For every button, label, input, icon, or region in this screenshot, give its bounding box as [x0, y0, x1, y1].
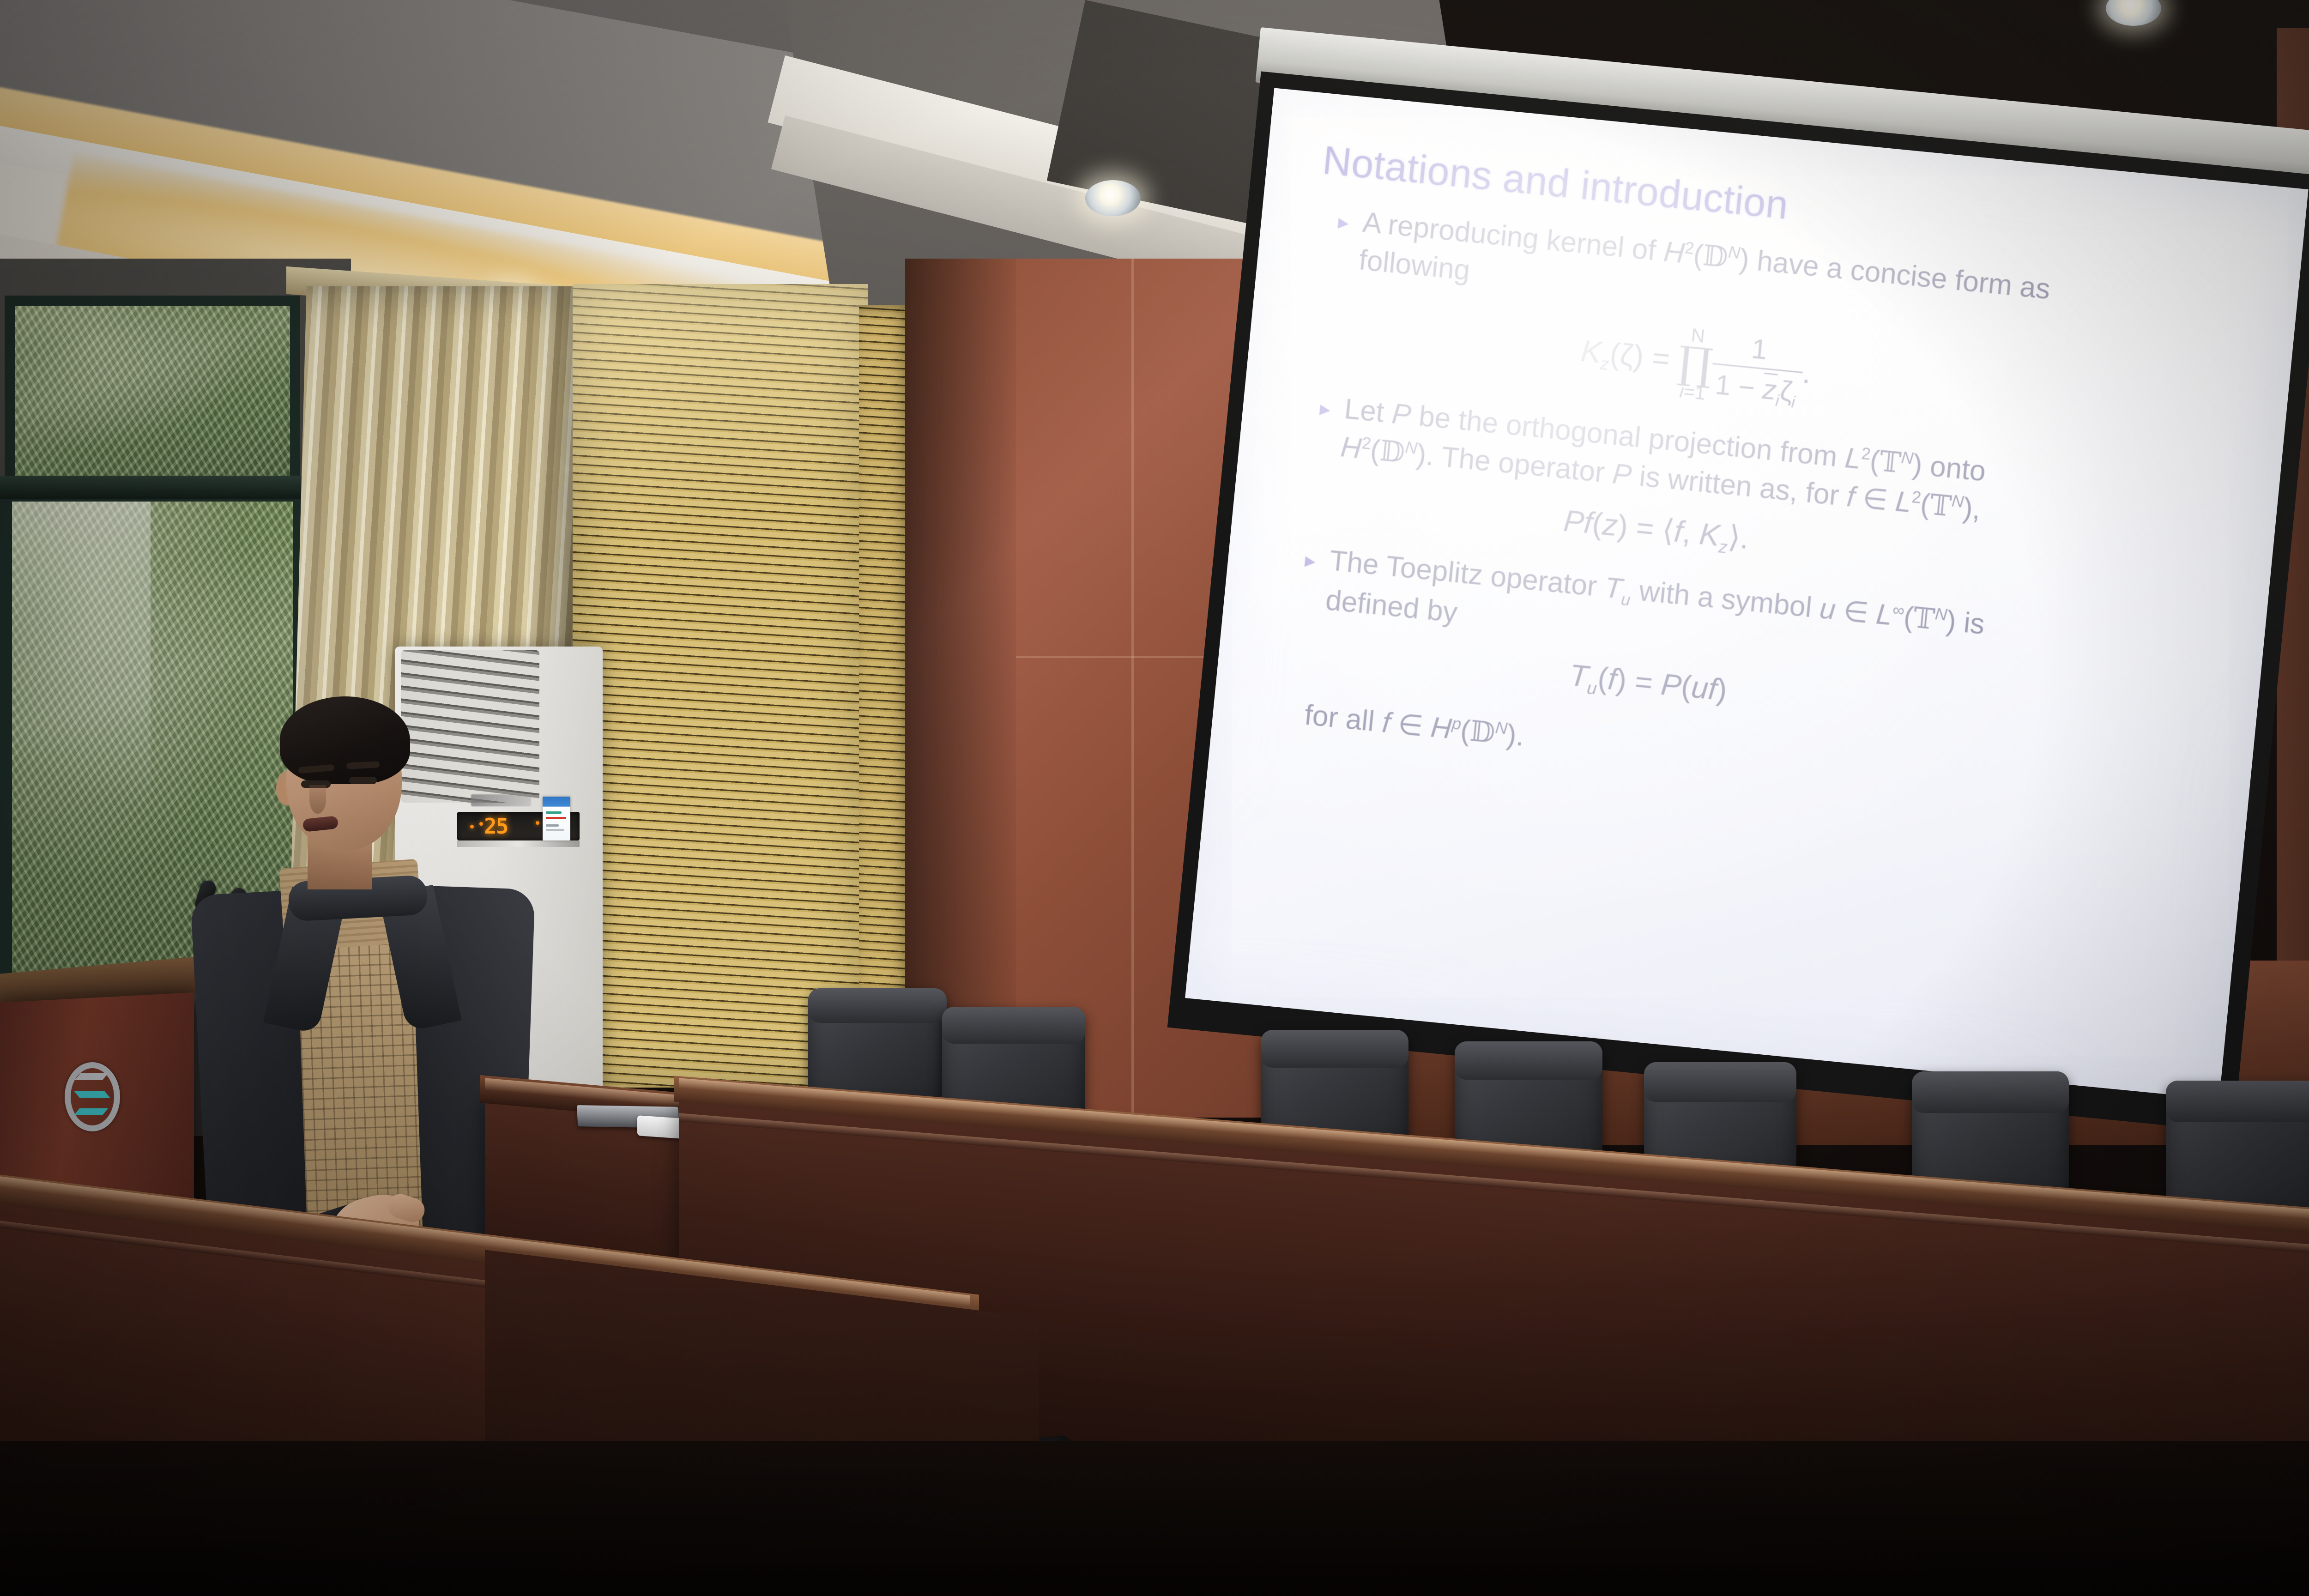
- institution-logo-icon: [65, 1062, 120, 1131]
- window-frame-upper: [5, 296, 300, 490]
- window-glare: [12, 502, 151, 973]
- downlight-icon: [2106, 0, 2161, 26]
- nose: [309, 785, 326, 814]
- bullet-marker-icon: ▸: [1294, 545, 1317, 677]
- window-mullion: [0, 476, 314, 499]
- window-glass-upper: [15, 306, 290, 479]
- eye-right: [349, 777, 377, 784]
- downlight-icon: [1085, 180, 1141, 216]
- floor-shadow: [0, 1441, 2309, 1596]
- slide-content: Notations and introduction ▸ A reproduci…: [1185, 88, 2308, 1100]
- bullet-marker-icon: ▸: [1309, 394, 1332, 524]
- projection-screen: Notations and introduction ▸ A reproduci…: [1164, 28, 2309, 1161]
- screen-surface: Notations and introduction ▸ A reproduci…: [1185, 88, 2308, 1100]
- bullet-1-post: have a concise form as: [1747, 244, 2051, 306]
- bullet-marker-icon: ▸: [1324, 207, 1350, 373]
- bullet-1-line2: following: [1358, 244, 1472, 286]
- panel-seam: [1131, 259, 1134, 1118]
- slat-wall-panel: [573, 284, 868, 1088]
- conference-room-photo: Notations and introduction ▸ A reproduci…: [0, 0, 2309, 1596]
